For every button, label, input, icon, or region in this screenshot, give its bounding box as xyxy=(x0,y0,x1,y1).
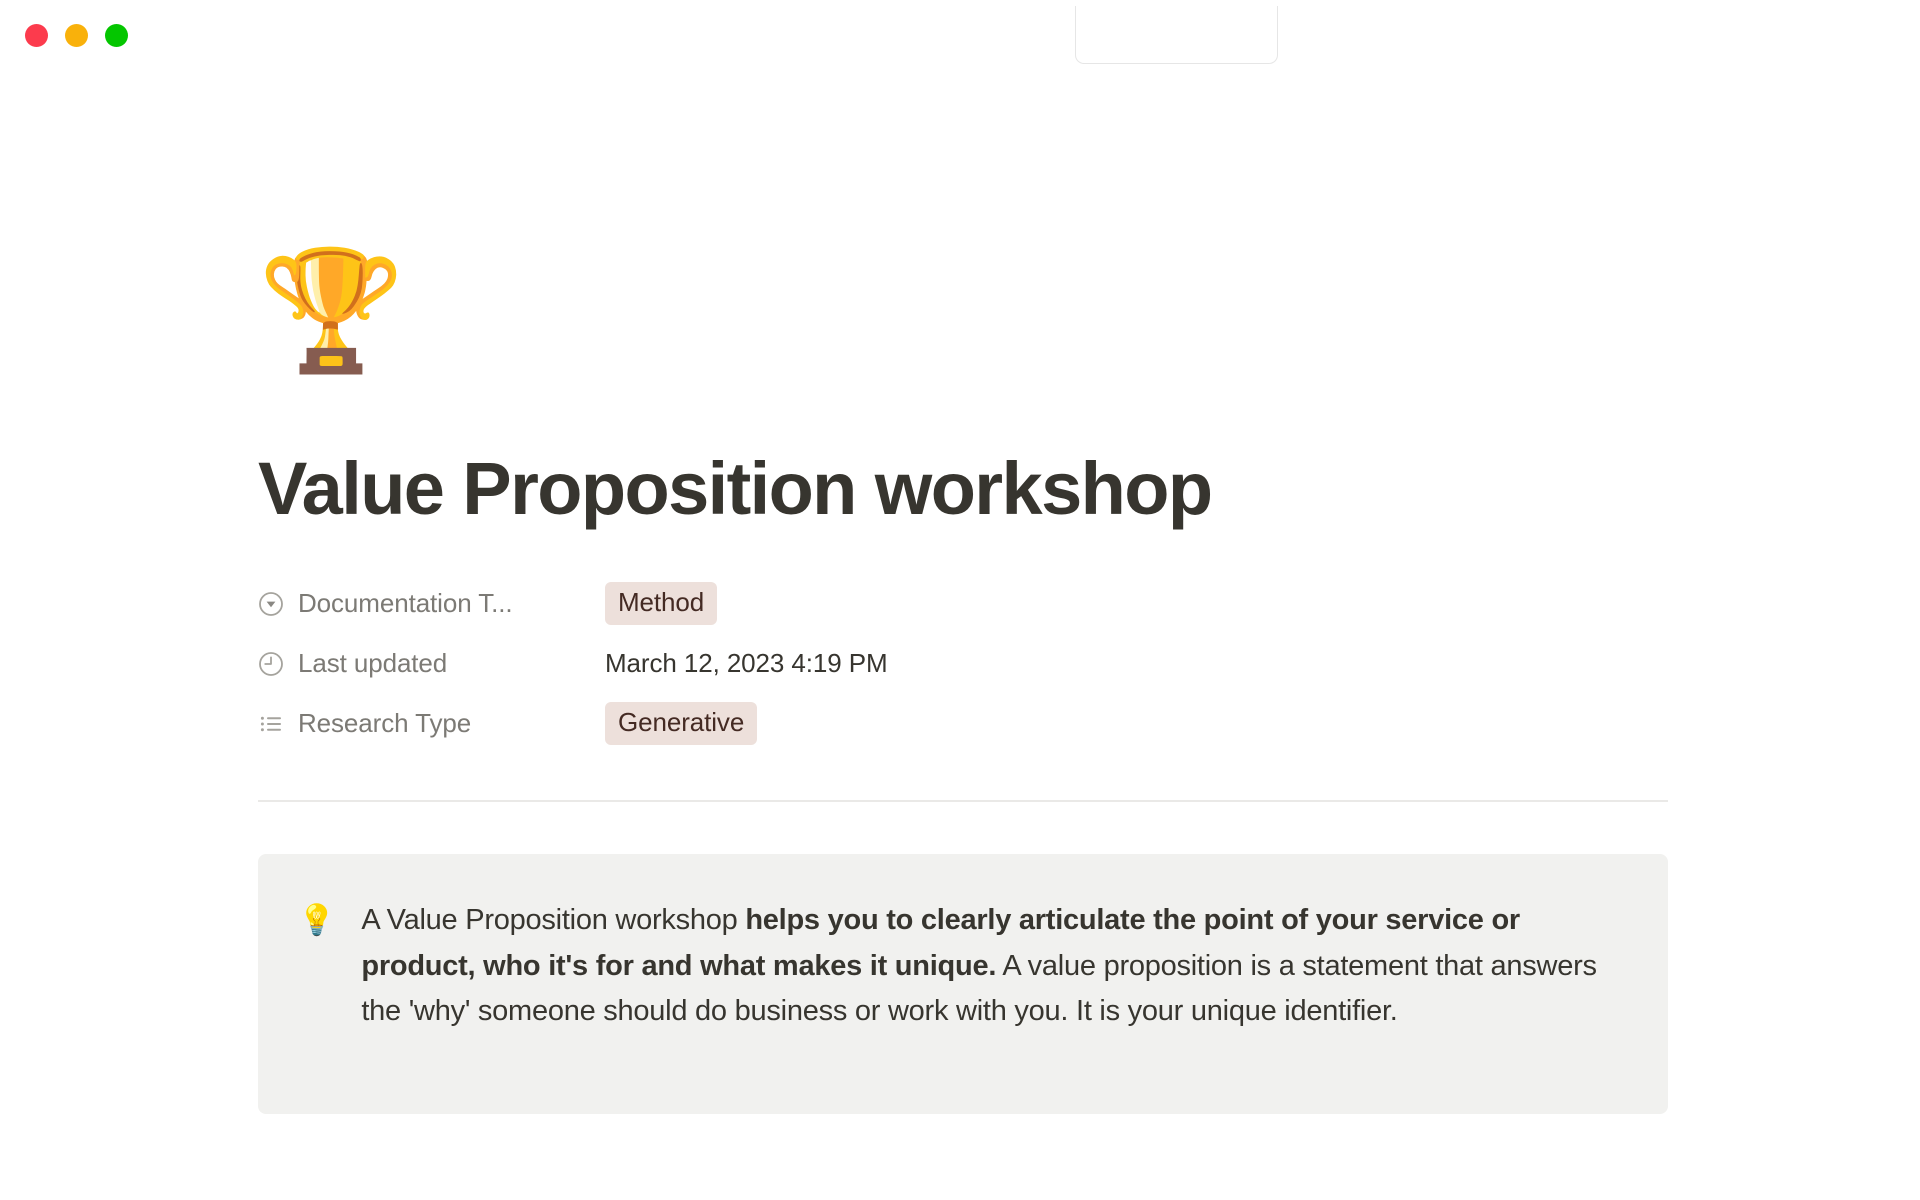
close-window-button[interactable] xyxy=(25,24,48,47)
status-badge[interactable]: Generative xyxy=(605,702,757,745)
section-divider xyxy=(258,800,1668,802)
property-value-documentation-type[interactable]: Method xyxy=(605,582,717,625)
light-bulb-emoji: 💡 xyxy=(298,898,335,944)
property-row-research-type: Research Type Generative xyxy=(258,694,1668,754)
traffic-light-controls xyxy=(25,24,128,47)
property-value-last-updated[interactable]: March 12, 2023 4:19 PM xyxy=(605,648,888,679)
property-key-last-updated[interactable]: Last updated xyxy=(258,648,605,679)
property-key-documentation-type[interactable]: Documentation T... xyxy=(258,588,605,619)
minimize-window-button[interactable] xyxy=(65,24,88,47)
clock-icon xyxy=(258,651,284,677)
property-key-research-type[interactable]: Research Type xyxy=(258,708,605,739)
app-window: 🏆 Value Proposition workshop Documentati… xyxy=(0,0,1920,1200)
property-row-last-updated: Last updated March 12, 2023 4:19 PM xyxy=(258,634,1668,694)
status-badge[interactable]: Method xyxy=(605,582,717,625)
callout-text: A Value Proposition workshop helps you t… xyxy=(361,898,1620,1035)
window-titlebar xyxy=(0,0,1920,72)
zoom-window-button[interactable] xyxy=(105,24,128,47)
page-title[interactable]: Value Proposition workshop xyxy=(258,450,1668,528)
page-properties: Documentation T... Method xyxy=(258,574,1668,754)
callout-block[interactable]: 💡 A Value Proposition workshop helps you… xyxy=(258,854,1668,1114)
trophy-emoji[interactable]: 🏆 xyxy=(258,252,1668,392)
property-value-research-type[interactable]: Generative xyxy=(605,702,757,745)
select-chevron-circle-icon xyxy=(258,591,284,617)
document-content: 🏆 Value Proposition workshop Documentati… xyxy=(258,72,1668,1114)
timestamp-value: March 12, 2023 4:19 PM xyxy=(605,648,888,679)
property-row-documentation-type: Documentation T... Method xyxy=(258,574,1668,634)
multi-select-list-icon xyxy=(258,711,284,737)
document-page: 🏆 Value Proposition workshop Documentati… xyxy=(0,72,1920,1200)
property-label: Research Type xyxy=(298,708,471,739)
property-label: Documentation T... xyxy=(298,588,513,619)
callout-text-lead: A Value Proposition workshop xyxy=(361,904,745,936)
property-label: Last updated xyxy=(298,648,447,679)
toolbar-overflow-chip[interactable] xyxy=(1075,6,1278,64)
